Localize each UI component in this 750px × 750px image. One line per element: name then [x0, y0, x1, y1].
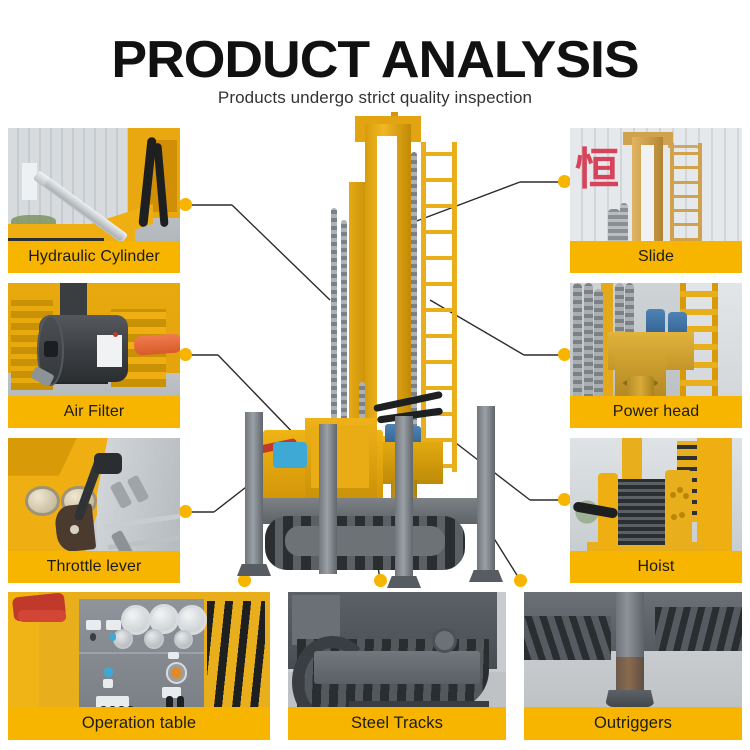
callout-card-outriggers[interactable]: Outriggers [524, 592, 742, 740]
caption-slide: Slide [570, 241, 742, 273]
rig-outrigger-right [477, 406, 495, 576]
callout-card-air-filter[interactable]: Air Filter [8, 283, 180, 428]
connector-dot-icon [179, 348, 192, 361]
connector-dot-icon [179, 198, 192, 211]
rig-outrigger-mid [395, 416, 413, 582]
callout-card-steel-tracks[interactable]: Steel Tracks [288, 592, 506, 740]
rig-outrigger-mid-foot [387, 576, 421, 588]
caption-hydraulic-cylinder: Hydraulic Cylinder [8, 241, 180, 273]
connector-dot-icon [514, 574, 527, 587]
rig-outrigger-left-foot [237, 564, 271, 576]
rig-hose-right [411, 152, 417, 452]
factory-sign-character: 恒 [575, 148, 616, 192]
callout-card-power-head[interactable]: Power head [570, 283, 742, 428]
page-title: PRODUCT ANALYSIS [0, 30, 750, 90]
callout-card-hoist[interactable]: Hoist [570, 438, 742, 583]
page-subtitle: Products undergo strict quality inspecti… [0, 88, 750, 108]
caption-hoist: Hoist [570, 551, 742, 583]
connector-dot-icon [179, 505, 192, 518]
caption-outriggers: Outriggers [524, 707, 742, 740]
caption-steel-tracks: Steel Tracks [288, 707, 506, 740]
callout-card-hydraulic-cylinder[interactable]: Hydraulic Cylinder [8, 128, 180, 273]
callout-card-operation-table[interactable]: Operation table [8, 592, 270, 740]
rig-outrigger-right-foot [469, 570, 503, 582]
callout-card-slide[interactable]: 恒 Slide [570, 128, 742, 273]
rig-outrigger-mid-left [319, 424, 337, 574]
rig-mast-gap [377, 136, 397, 436]
center-product-image [245, 112, 515, 582]
rig-outrigger-left [245, 412, 263, 570]
caption-operation-table: Operation table [8, 707, 270, 740]
rig-crawler-frame [285, 526, 445, 556]
caption-power-head: Power head [570, 396, 742, 428]
callout-card-throttle-lever[interactable]: Throttle lever [8, 438, 180, 583]
caption-air-filter: Air Filter [8, 396, 180, 428]
rig-ladder [421, 142, 457, 472]
caption-throttle-lever: Throttle lever [8, 551, 180, 583]
rig-blue-tank [273, 442, 307, 468]
infographic-root: PRODUCT ANALYSIS Products undergo strict… [0, 0, 750, 750]
